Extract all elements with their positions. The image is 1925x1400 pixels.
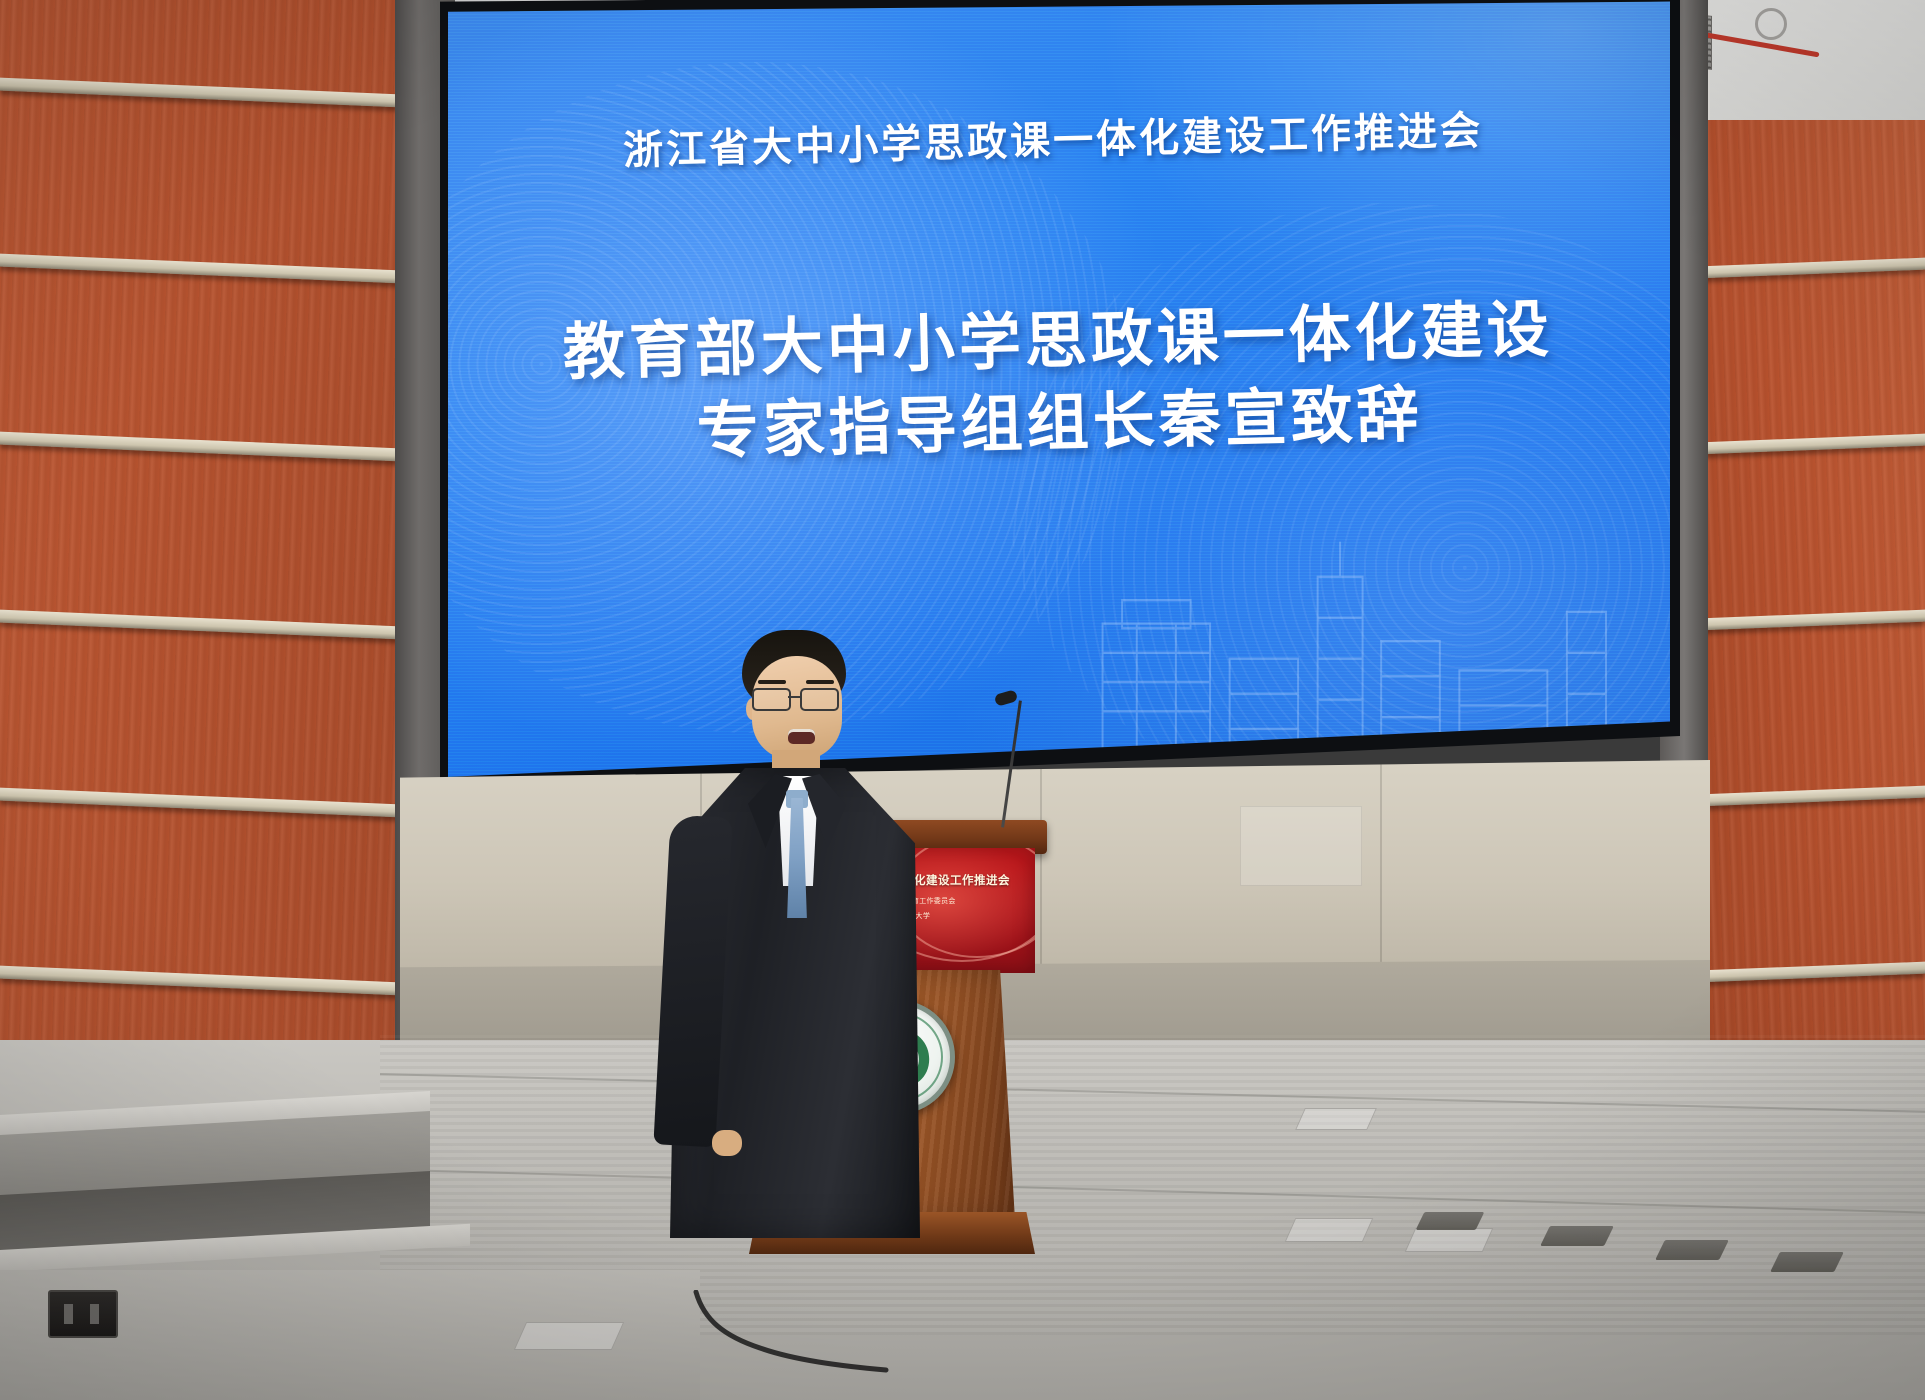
floor-audio-cable xyxy=(690,1290,890,1380)
floor-tile xyxy=(1285,1218,1374,1242)
slide-text-block: 浙江省大中小学思政课一体化建设工作推进会 教育部大中小学思政课一体化建设 专家指… xyxy=(448,0,1670,780)
slide-subtitle: 浙江省大中小学思政课一体化建设工作推进会 xyxy=(448,94,1665,181)
floor-marker xyxy=(1416,1212,1485,1230)
speaker-person xyxy=(660,630,930,1330)
wall-seam xyxy=(1040,760,1042,980)
led-screen[interactable]: 浙江省大中小学思政课一体化建设工作推进会 教育部大中小学思政课一体化建设 专家指… xyxy=(448,0,1670,780)
speaker-mouth xyxy=(788,729,815,744)
floor-marker xyxy=(1655,1240,1729,1260)
stage-back-wall xyxy=(400,760,1710,980)
wall-power-outlet[interactable] xyxy=(48,1290,118,1338)
speaker-hand xyxy=(712,1130,742,1156)
round-vent-icon xyxy=(1755,8,1787,40)
wall-panel xyxy=(1240,806,1362,886)
floor-tile xyxy=(1295,1108,1377,1130)
floor-marker xyxy=(1540,1226,1614,1246)
speaker-eyebrow xyxy=(758,680,786,684)
left-wood-wall xyxy=(0,0,400,1130)
wall-seam xyxy=(1380,760,1382,980)
floor-tile xyxy=(514,1322,624,1350)
speaker-eyebrow xyxy=(806,680,834,684)
slide-headline: 教育部大中小学思政课一体化建设 专家指导组组长秦宣致辞 xyxy=(448,286,1670,478)
floor-tile xyxy=(1405,1228,1494,1252)
floor-marker xyxy=(1770,1252,1844,1272)
conference-hall-photo: 浙江省大中小学思政课一体化建设工作推进会 教育部大中小学思政课一体化建设 专家指… xyxy=(0,0,1925,1400)
glasses-icon xyxy=(752,688,844,708)
